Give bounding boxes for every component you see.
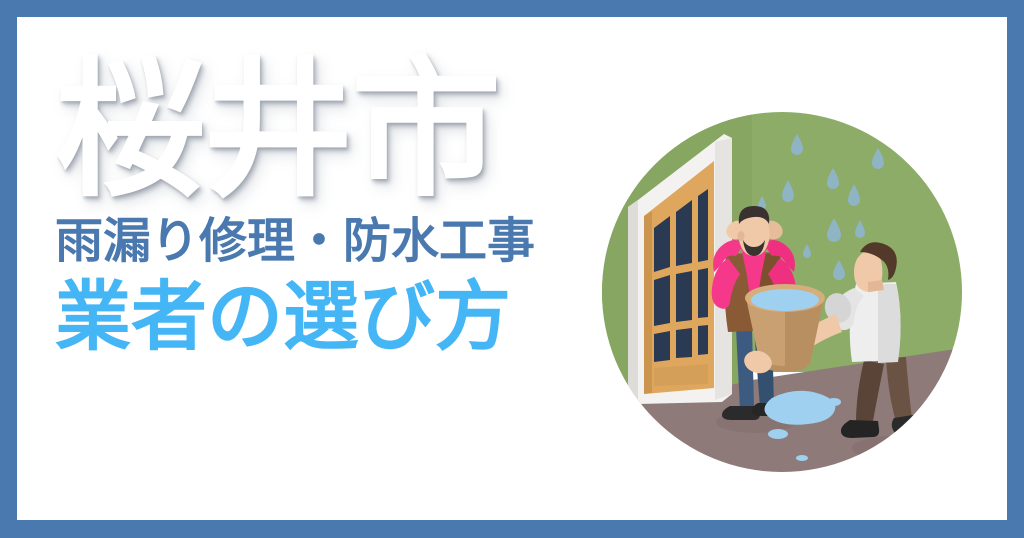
text-block: 桜井市 雨漏り修理・防水工事 業者の選び方 [55, 55, 615, 358]
bucket-man-shadow [852, 436, 936, 460]
page-title: 桜井市 [55, 55, 615, 208]
puddle-droplet-side [827, 398, 841, 406]
door-frame-edge-left [628, 200, 638, 404]
roof-leak-scene-svg [602, 112, 962, 472]
roof-leak-illustration [602, 112, 962, 472]
bucket-water [751, 289, 819, 311]
bucket-man-shirt-shade [878, 284, 901, 363]
headline: 業者の選び方 [55, 276, 615, 358]
banner-frame: 桜井市 雨漏り修理・防水工事 業者の選び方 [0, 0, 1024, 538]
puddle-droplet-small [768, 429, 788, 439]
puddle-droplet-tiny [796, 455, 808, 461]
subtitle: 雨漏り修理・防水工事 [55, 216, 615, 268]
bucket-man-shoe-back [841, 420, 879, 438]
banner-canvas: 桜井市 雨漏り修理・防水工事 業者の選び方 [17, 17, 1007, 520]
scene-group [602, 112, 962, 472]
door-slab-shade [644, 211, 652, 394]
worried-man-ear [738, 231, 745, 241]
bucket-man-neck [868, 280, 884, 292]
